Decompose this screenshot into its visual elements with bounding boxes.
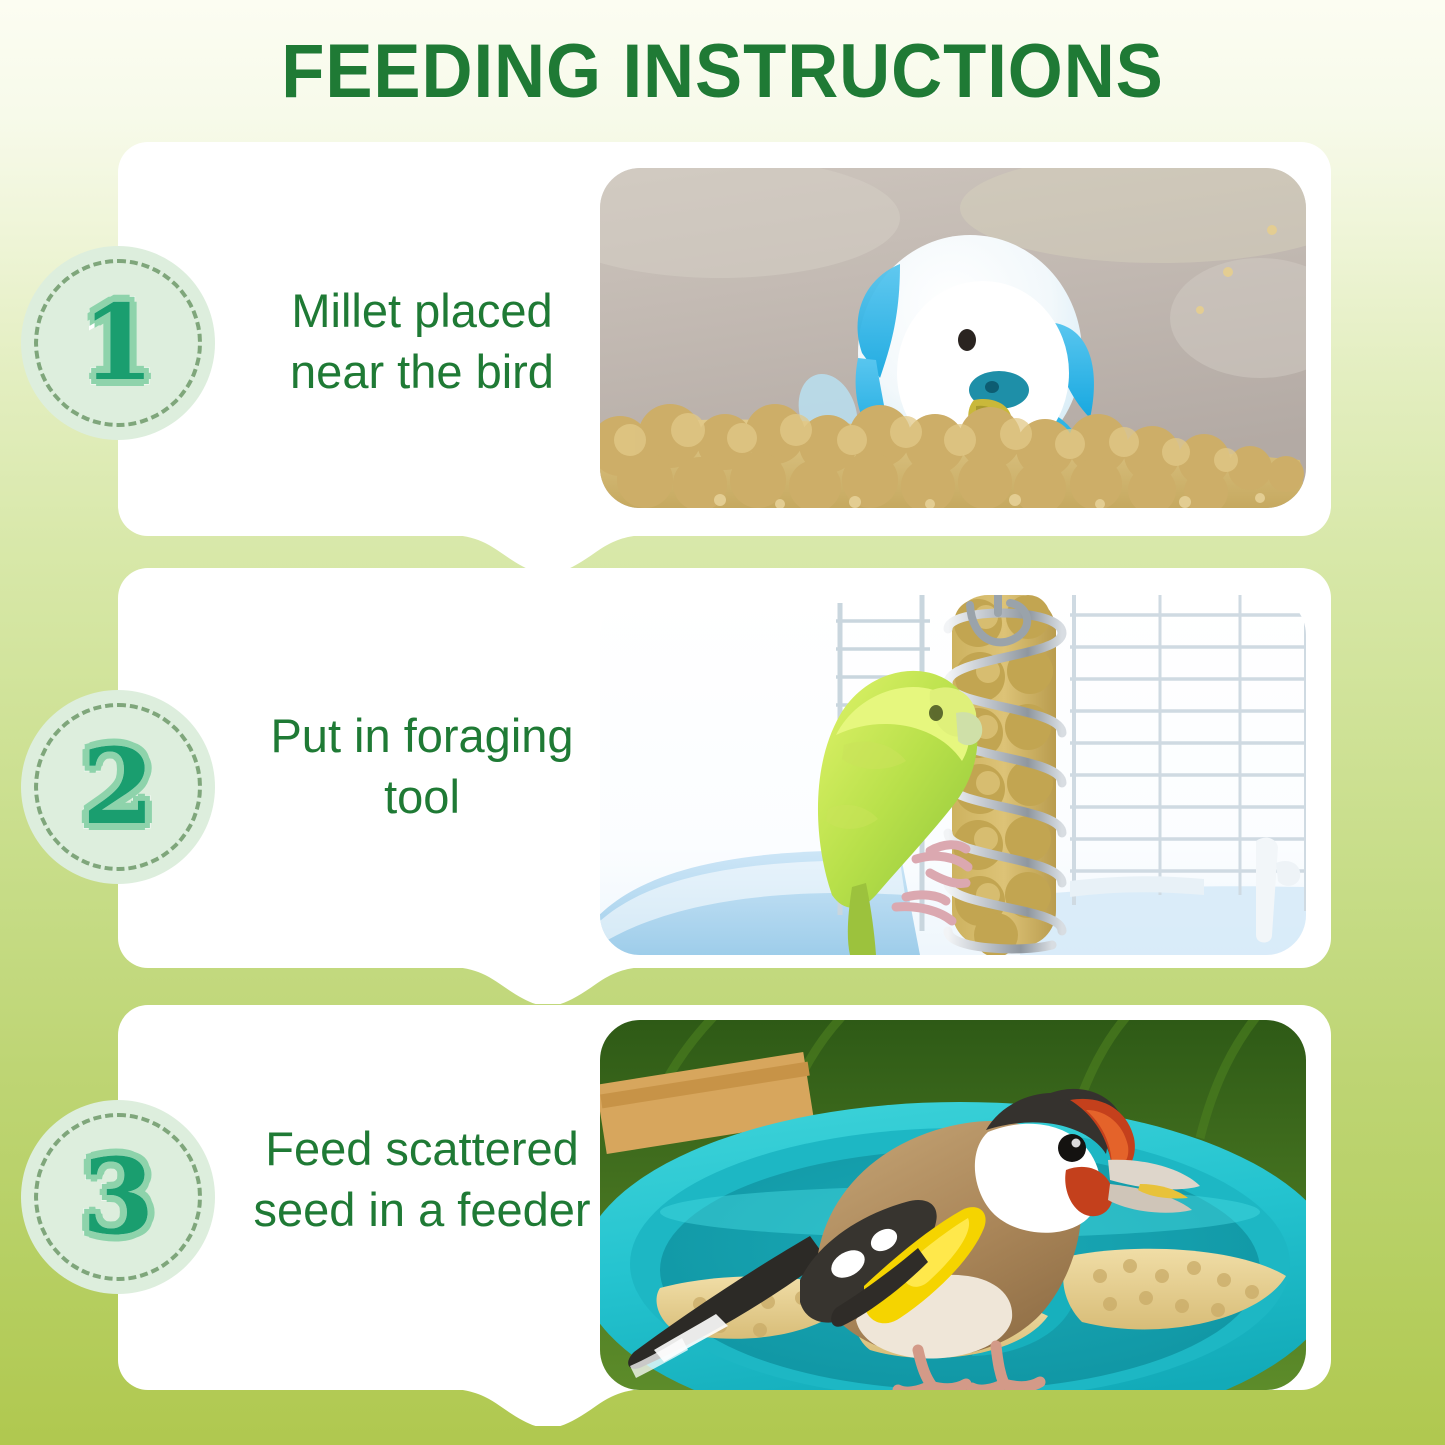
notch-shape-icon bbox=[430, 1386, 666, 1426]
step-2-text-line-2: tool bbox=[222, 766, 622, 827]
notch-shape-icon bbox=[430, 532, 666, 572]
step-2-text-line-1: Put in foraging bbox=[222, 705, 622, 766]
step-2-badge: 2 bbox=[21, 690, 215, 884]
card-2-connector-notch bbox=[430, 964, 666, 1004]
step-3-photo bbox=[600, 1020, 1306, 1390]
card-1-connector-notch bbox=[430, 532, 666, 572]
step-2-photo bbox=[600, 595, 1306, 955]
step-1-text-line-1: Millet placed bbox=[222, 280, 622, 341]
step-3-text-line-2: seed in a feeder bbox=[222, 1179, 622, 1240]
step-3-text: Feed scattered seed in a feeder bbox=[222, 1118, 622, 1240]
step-3-text-line-1: Feed scattered bbox=[222, 1118, 622, 1179]
step-3-badge: 3 bbox=[21, 1100, 215, 1294]
notch-shape-icon bbox=[430, 964, 666, 1004]
step-2-number: 2 bbox=[82, 735, 154, 839]
step-1-photo bbox=[600, 168, 1306, 508]
step-1-number: 1 bbox=[82, 291, 154, 395]
infographic-root: FEEDING INSTRUCTIONS bbox=[0, 0, 1445, 1445]
goldfinch-feeder-photo-icon bbox=[600, 1020, 1306, 1390]
budgie-foraging-tool-photo-icon bbox=[600, 595, 1306, 955]
step-2-text: Put in foraging tool bbox=[222, 705, 622, 827]
card-3-connector-notch bbox=[430, 1386, 666, 1426]
page-title: FEEDING INSTRUCTIONS bbox=[51, 28, 1395, 115]
step-1-text: Millet placed near the bird bbox=[222, 280, 622, 402]
step-1-text-line-2: near the bird bbox=[222, 341, 622, 402]
budgie-millet-photo-icon bbox=[600, 168, 1306, 508]
step-1-badge: 1 bbox=[21, 246, 215, 440]
step-3-number: 3 bbox=[82, 1145, 154, 1249]
